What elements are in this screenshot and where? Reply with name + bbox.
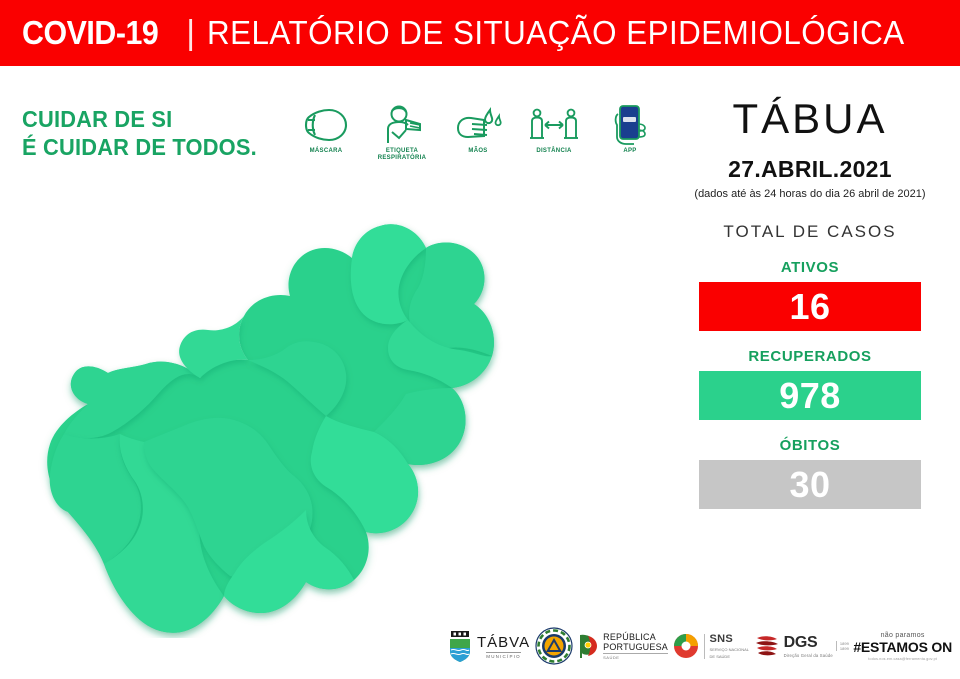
page-title: RELATÓRIO DE SITUAÇÃO EPIDEMIOLÓGICA: [207, 14, 905, 52]
dgs-year-2: 1899: [840, 646, 849, 651]
header-separator: |: [186, 14, 195, 53]
etiquette-line-1: ETIQUETA: [378, 148, 427, 155]
estamos-on-foot: todos.nos.em.casa@ferramenta.gov.pt: [868, 657, 937, 661]
mask-icon: [303, 104, 349, 146]
tabva-wordmark: TÁBVA MUNICÍPIO: [477, 634, 530, 659]
dgs-year: 1899 1899: [836, 641, 849, 651]
municipality-map: [8, 168, 668, 638]
tabva-name: TÁBVA: [477, 634, 530, 651]
republica-sub: SAÚDE: [603, 653, 668, 660]
campaign-slogan: CUIDAR DE SI É CUIDAR DE TODOS.: [22, 105, 257, 161]
stat-bar-recuperados: 978: [699, 371, 921, 420]
stat-bar-obitos: 30: [699, 460, 921, 509]
logo-civil-protection: [535, 627, 573, 665]
stat-obitos: ÓBITOS 30: [660, 437, 960, 509]
republica-shield-icon: [577, 633, 599, 659]
logo-tabva-municipio: TÁBVA MUNICÍPIO: [448, 629, 530, 663]
prevention-label-distance: DISTÂNCIA: [536, 148, 571, 155]
page-header: COVID-19 | RELATÓRIO DE SITUAÇÃO EPIDEMI…: [0, 0, 960, 66]
sns-name: SNS: [710, 634, 750, 645]
sns-sub-1: SERVIÇO NACIONAL: [710, 647, 750, 652]
prevention-label-hands: MÃOS: [468, 148, 487, 155]
etiquette-line-2: RESPIRATÓRIA: [378, 155, 427, 162]
hand-washing-icon: [454, 104, 502, 146]
respiratory-etiquette-icon: [379, 104, 425, 146]
prevention-label-respiratory-etiquette: ETIQUETA RESPIRATÓRIA: [378, 148, 427, 162]
mobile-app-icon: [612, 104, 648, 146]
tabva-shield-icon: [448, 629, 472, 663]
footer-logo-bar: TÁBVA MUNICÍPIO REPÚBLICA: [448, 620, 952, 672]
civil-protection-icon: [535, 627, 573, 665]
stat-label-recuperados: RECUPERADOS: [660, 348, 960, 365]
logo-estamos-on: não paramos #ESTAMOS ON todos.nos.em.cas…: [853, 632, 952, 661]
prevention-label-mask: MÁSCARA: [310, 148, 343, 155]
map-svg: [8, 168, 668, 638]
report-date-note: (dados até às 24 horas do dia 26 abril d…: [660, 188, 960, 200]
logo-republica-portuguesa: REPÚBLICA PORTUGUESA SAÚDE: [577, 632, 668, 661]
sns-sub-2: DE SAÚDE: [710, 654, 750, 659]
stat-value-ativos: 16: [789, 289, 830, 325]
report-page: COVID-19 | RELATÓRIO DE SITUAÇÃO EPIDEMI…: [0, 0, 960, 679]
prevention-item-distance: DISTÂNCIA: [526, 104, 582, 155]
municipality-name: TÁBUA: [660, 98, 960, 140]
logo-dgs: DGS Direção Geral da Saúde 1899 1899: [754, 633, 849, 659]
prevention-item-hands: MÃOS: [450, 104, 506, 155]
prevention-icon-row: MÁSCARA ETIQUETA RESPIRATÓRIA: [298, 104, 658, 162]
logo-sns: SNS SERVIÇO NACIONAL DE SAÚDE: [673, 633, 750, 659]
stats-panel: TÁBUA 27.ABRIL.2021 (dados até às 24 hor…: [660, 92, 960, 509]
tabva-sub: MUNICÍPIO: [486, 652, 521, 659]
dgs-icon: [754, 633, 780, 659]
prevention-item-respiratory-etiquette: ETIQUETA RESPIRATÓRIA: [374, 104, 430, 162]
prevention-item-app: APP: [602, 104, 658, 155]
stat-value-obitos: 30: [789, 467, 830, 503]
slogan-line-2: É CUIDAR DE TODOS.: [22, 133, 257, 161]
republica-line-2: PORTUGUESA: [603, 642, 668, 652]
stat-label-obitos: ÓBITOS: [660, 437, 960, 454]
total-cases-label: TOTAL DE CASOS: [660, 222, 960, 242]
header-inner: COVID-19 | RELATÓRIO DE SITUAÇÃO EPIDEMI…: [0, 14, 941, 53]
report-date: 27.ABRIL.2021: [660, 156, 960, 183]
header-brand: COVID-19: [22, 14, 158, 52]
sns-wordmark: SNS SERVIÇO NACIONAL DE SAÚDE: [704, 634, 750, 659]
stat-label-ativos: ATIVOS: [660, 259, 960, 276]
dgs-name: DGS: [784, 635, 833, 651]
prevention-item-mask: MÁSCARA: [298, 104, 354, 155]
stat-ativos: ATIVOS 16: [660, 259, 960, 331]
estamos-on-top: não paramos: [881, 632, 925, 639]
stat-bar-ativos: 16: [699, 282, 921, 331]
dgs-wordmark: DGS Direção Geral da Saúde: [784, 635, 833, 658]
stat-value-recuperados: 978: [779, 378, 841, 414]
social-distance-icon: [528, 104, 580, 146]
sns-icon: [673, 633, 699, 659]
republica-wordmark: REPÚBLICA PORTUGUESA SAÚDE: [603, 632, 668, 661]
estamos-on-main: #ESTAMOS ON: [853, 639, 952, 655]
dgs-sub: Direção Geral da Saúde: [784, 653, 833, 658]
republica-line-1: REPÚBLICA: [603, 632, 668, 642]
slogan-line-1: CUIDAR DE SI: [22, 105, 257, 133]
prevention-label-app: APP: [623, 148, 636, 155]
stat-recuperados: RECUPERADOS 978: [660, 348, 960, 420]
